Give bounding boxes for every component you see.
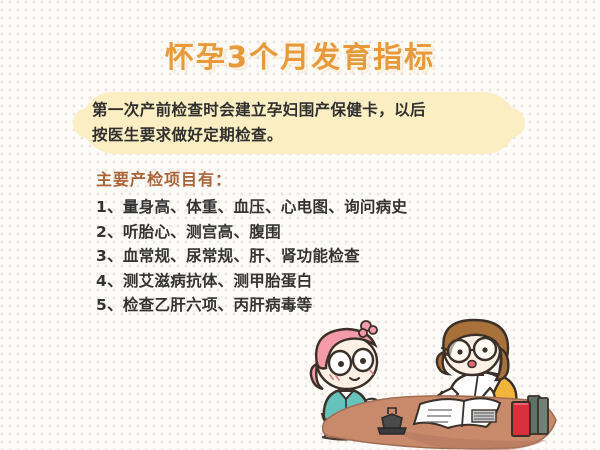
illustration-consultation-scene — [300, 318, 600, 450]
intro-line-1: 第一次产前检查时会建立孕妇围产保健卡，以后 — [92, 101, 426, 119]
intro-line-2: 按医生要求做好定期检查。 — [92, 123, 517, 148]
list-item: 4、测艾滋病抗体、测甲胎蛋白 — [96, 269, 516, 294]
section-heading: 主要产检项目有： — [96, 168, 516, 192]
intro-paragraph: 第一次产前检查时会建立孕妇围产保健卡，以后 按医生要求做好定期检查。 — [92, 98, 517, 148]
open-notebook-icon — [414, 398, 500, 428]
exam-items-section: 主要产检项目有： 1、量身高、体重、血压、心电图、询问病史 2、听胎心、测宫高、… — [96, 168, 516, 318]
list-item: 1、量身高、体重、血压、心电图、询问病史 — [96, 195, 516, 220]
page-title-container: 怀孕3个月发育指标 — [0, 34, 600, 76]
list-item: 5、检查乙肝六项、丙肝病毒等 — [96, 293, 516, 318]
list-item: 2、听胎心、测宫高、腹围 — [96, 220, 516, 245]
page-title: 怀孕3个月发育指标 — [165, 34, 435, 76]
books-stack — [512, 396, 548, 436]
list-item: 3、血常规、尿常规、肝、肾功能检查 — [96, 244, 516, 269]
